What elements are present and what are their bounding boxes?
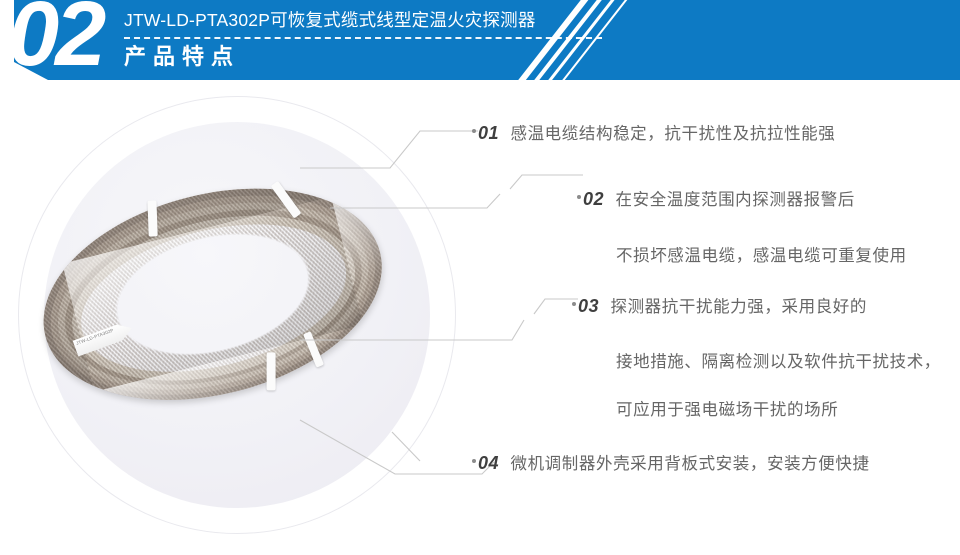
- feature-item-03: 03 探测器抗干扰能力强，采用良好的: [578, 293, 867, 317]
- bullet-dot-icon: [472, 459, 476, 463]
- feature-text-01-line-1: 感温电缆结构稳定，抗干扰性及抗拉性能强: [510, 124, 835, 143]
- feature-item-01: 01 感温电缆结构稳定，抗干扰性及抗拉性能强: [478, 120, 835, 144]
- feature-text-03-line-1: 探测器抗干扰能力强，采用良好的: [610, 297, 867, 316]
- feature-text-03-line-2: 接地措施、隔离检测以及软件抗干扰技术，: [616, 348, 941, 372]
- bullet-dot-icon: [572, 302, 576, 306]
- feature-text-02-line-1: 在安全温度范围内探测器报警后: [615, 190, 854, 209]
- section-title: 产品特点: [124, 43, 644, 71]
- product-title: JTW-LD-PTA302P可恢复式缆式线型定温火灾探测器: [124, 8, 644, 32]
- header-text-block: JTW-LD-PTA302P可恢复式缆式线型定温火灾探测器 产品特点: [124, 8, 644, 71]
- section-number: 02: [8, 0, 102, 80]
- leader-line-02b: [510, 175, 583, 189]
- page-header: 02 JTW-LD-PTA302P可恢复式缆式线型定温火灾探测器 产品特点: [0, 0, 960, 82]
- section-number-container: 02: [0, 0, 140, 82]
- feature-text-03-line-3: 可应用于强电磁场干扰的场所: [616, 396, 838, 420]
- feature-item-02: 02 在安全温度范围内探测器报警后: [583, 186, 855, 210]
- feature-text-04-line-1: 微机调制器外壳采用背板式安装，安装方便快捷: [510, 454, 869, 473]
- feature-index-04: 04: [478, 453, 499, 473]
- product-image: JTW-LD-PTA302P: [18, 96, 458, 536]
- bullet-dot-icon: [577, 195, 581, 199]
- cable-tie-1: [147, 200, 157, 236]
- feature-index-02: 02: [583, 189, 604, 209]
- header-dashed-divider: [124, 37, 602, 39]
- feature-index-03: 03: [578, 296, 599, 316]
- feature-item-04: 04 微机调制器外壳采用背板式安装，安装方便快捷: [478, 450, 870, 474]
- leader-line-03b: [534, 299, 578, 314]
- feature-text-02-line-2: 不损坏感温电缆，感温电缆可重复使用: [616, 242, 907, 266]
- feature-index-01: 01: [478, 123, 499, 143]
- bullet-dot-icon: [472, 129, 476, 133]
- cable-tie-3: [267, 352, 276, 390]
